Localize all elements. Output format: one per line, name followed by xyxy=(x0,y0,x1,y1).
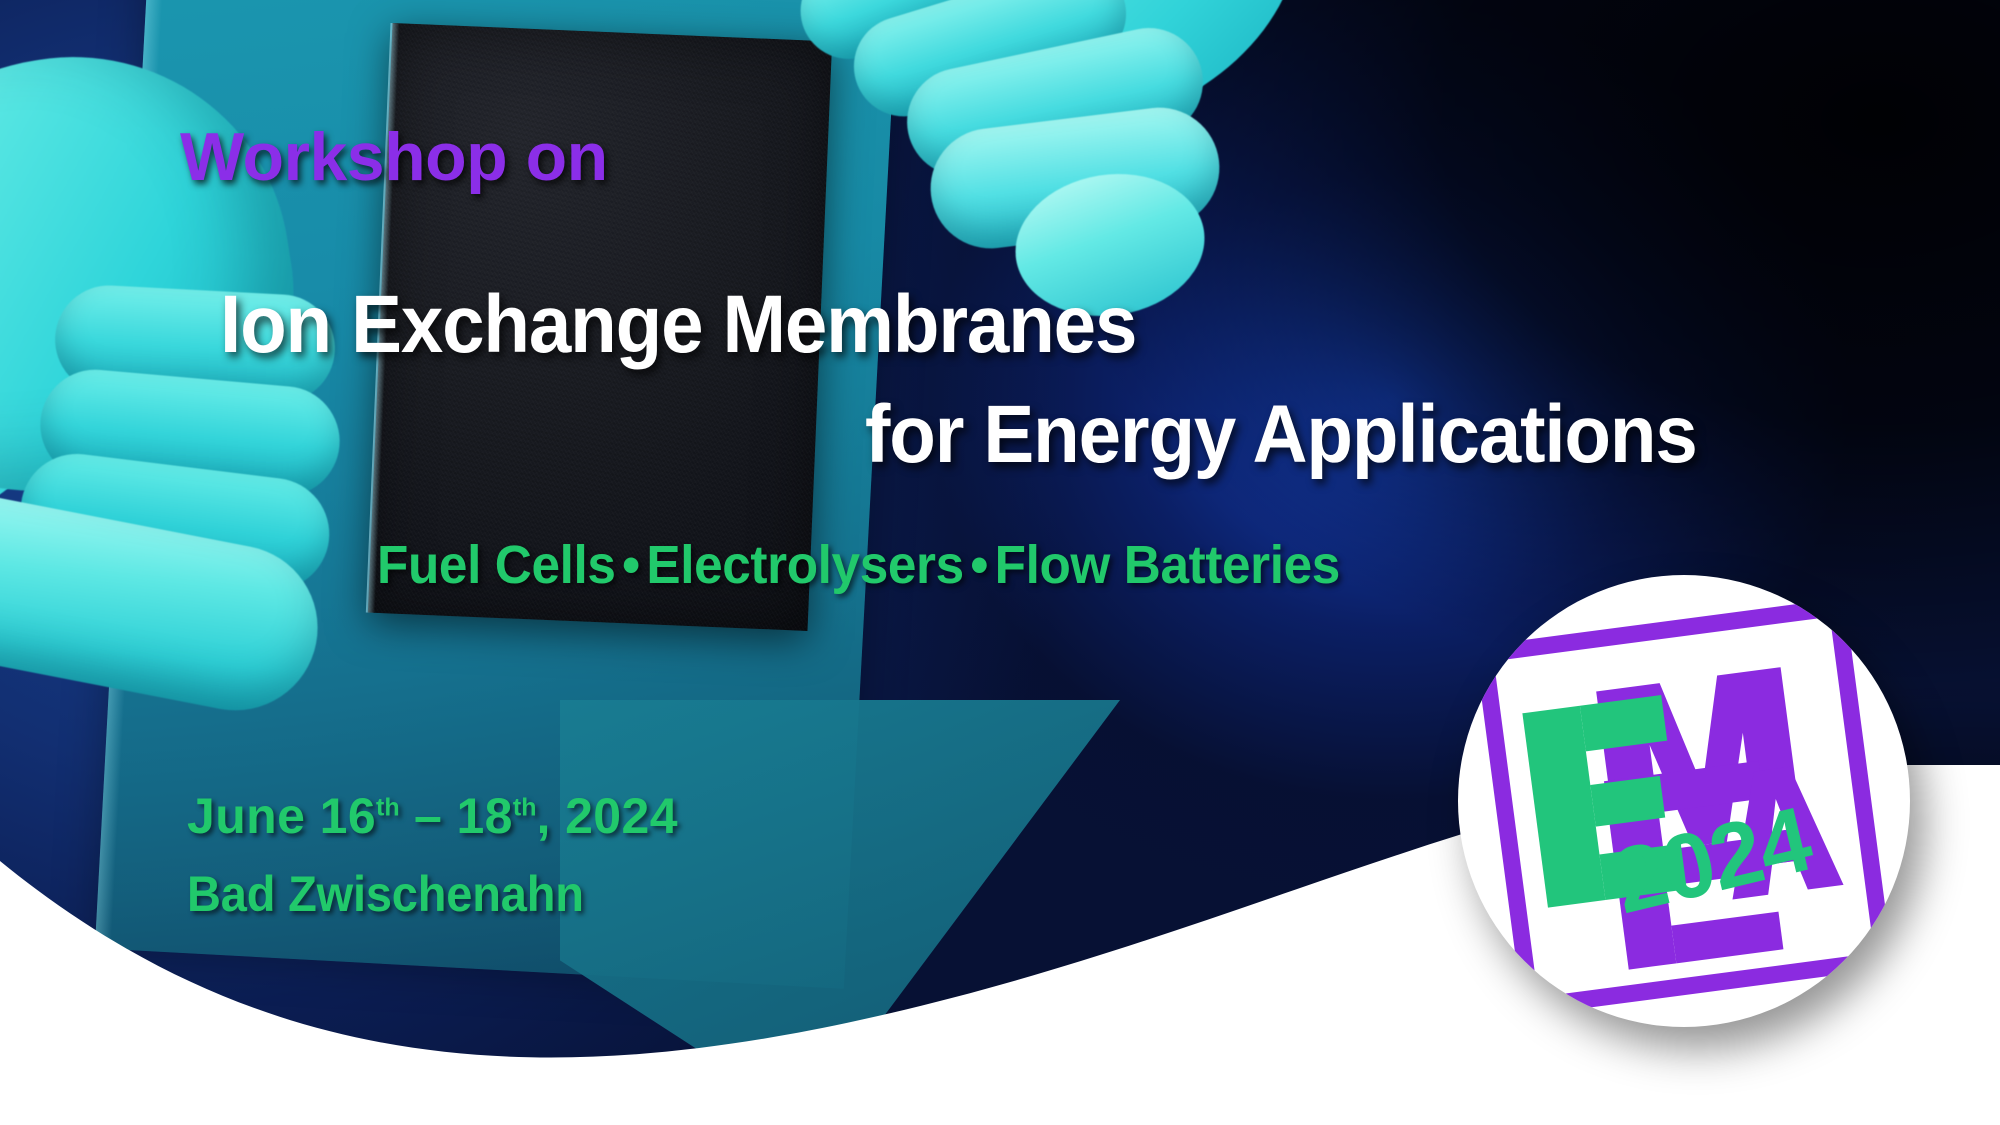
logo-artwork: 2024 xyxy=(1458,575,1910,1027)
date-comma: , xyxy=(536,788,550,844)
event-date: June 16th – 18th, 2024 xyxy=(187,787,678,845)
date-range-dash: – xyxy=(414,788,442,844)
subtitle-topics: Fuel Cells•Electrolysers•Flow Batteries xyxy=(377,534,1340,596)
kicker-text: Workshop on xyxy=(180,118,608,196)
date-day-start-suffix: th xyxy=(376,793,400,821)
date-year: 2024 xyxy=(565,788,678,844)
event-poster: Workshop on Ion Exchange Membranes for E… xyxy=(0,0,2000,1125)
title-line-1: Ion Exchange Membranes xyxy=(220,278,1136,372)
event-location: Bad Zwischenahn xyxy=(187,865,584,923)
date-day-start: 16 xyxy=(320,788,376,844)
emea-2024-logo-badge[interactable]: 2024 xyxy=(1458,575,1910,1027)
topic-electrolysers: Electrolysers xyxy=(646,535,963,595)
date-day-end: 18 xyxy=(456,788,512,844)
title-line-2: for Energy Applications xyxy=(865,388,1697,482)
bullet-separator-icon: • xyxy=(964,535,995,595)
topic-fuel-cells: Fuel Cells xyxy=(377,535,616,595)
topic-flow-batteries: Flow Batteries xyxy=(995,535,1340,595)
bullet-separator-icon: • xyxy=(616,535,647,595)
date-day-end-suffix: th xyxy=(513,793,537,821)
date-month: June xyxy=(187,788,305,844)
